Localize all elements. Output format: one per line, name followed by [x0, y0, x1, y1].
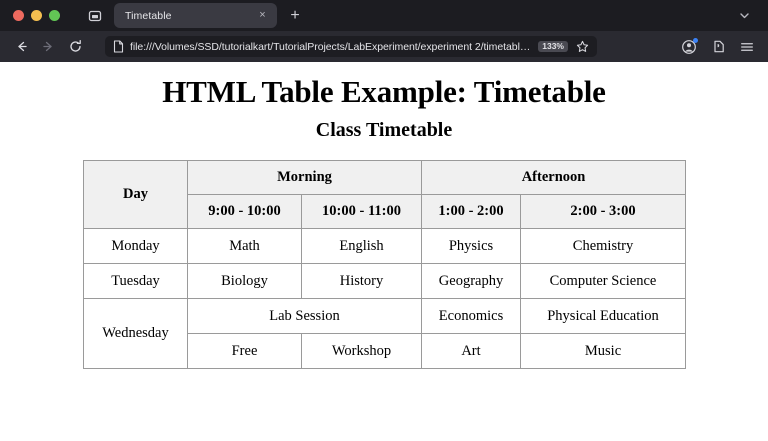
tab-strip: Timetable × + — [114, 0, 730, 31]
header-morning: Morning — [188, 161, 422, 195]
cell-day-tuesday: Tuesday — [84, 264, 188, 299]
navigation-toolbar: file:///Volumes/SSD/tutorialkart/Tutoria… — [0, 31, 768, 62]
cell-monday-1: Math — [188, 229, 302, 264]
browser-window: Timetable × + — [0, 0, 768, 441]
page-content: HTML Table Example: Timetable Class Time… — [0, 62, 768, 441]
cell-tuesday-4: Computer Science — [521, 264, 686, 299]
table-row: Wednesday Lab Session Economics Physical… — [84, 299, 686, 334]
table-head: Day Morning Afternoon 9:00 - 10:00 10:00… — [84, 161, 686, 229]
account-icon[interactable] — [679, 37, 699, 57]
cell-tuesday-3: Geography — [422, 264, 521, 299]
timetable-table: Day Morning Afternoon 9:00 - 10:00 10:00… — [83, 160, 686, 369]
table-row: Tuesday Biology History Geography Comput… — [84, 264, 686, 299]
zoom-level-badge[interactable]: 133% — [538, 41, 568, 53]
cell-wednesday-workshop: Workshop — [302, 334, 422, 369]
table-container: Day Morning Afternoon 9:00 - 10:00 10:00… — [0, 160, 768, 369]
close-window-button[interactable] — [13, 10, 24, 21]
page-document-icon — [113, 40, 124, 53]
cell-monday-3: Physics — [422, 229, 521, 264]
forward-button[interactable] — [35, 34, 62, 60]
url-text: file:///Volumes/SSD/tutorialkart/Tutoria… — [130, 41, 531, 53]
header-afternoon: Afternoon — [422, 161, 686, 195]
cell-wednesday-lab-session: Lab Session — [188, 299, 422, 334]
page-title: HTML Table Example: Timetable — [0, 74, 768, 110]
cell-wednesday-music: Music — [521, 334, 686, 369]
bookmark-star-icon[interactable] — [573, 38, 591, 56]
sidebar-toggle-icon[interactable] — [82, 4, 108, 28]
menu-icon[interactable] — [737, 37, 757, 57]
header-time-1: 9:00 - 10:00 — [188, 195, 302, 229]
maximize-window-button[interactable] — [49, 10, 60, 21]
address-bar[interactable]: file:///Volumes/SSD/tutorialkart/Tutoria… — [105, 36, 597, 57]
cell-day-wednesday: Wednesday — [84, 299, 188, 369]
header-time-4: 2:00 - 3:00 — [521, 195, 686, 229]
notification-dot — [693, 38, 698, 43]
chevron-down-icon[interactable] — [730, 3, 758, 29]
table-header-row-groups: Day Morning Afternoon — [84, 161, 686, 195]
cell-wednesday-free: Free — [188, 334, 302, 369]
toolbar-actions — [679, 37, 768, 57]
new-tab-button[interactable]: + — [283, 4, 307, 28]
cell-wednesday-economics: Economics — [422, 299, 521, 334]
back-button[interactable] — [8, 34, 35, 60]
reload-button[interactable] — [62, 34, 89, 60]
minimize-window-button[interactable] — [31, 10, 42, 21]
header-time-2: 10:00 - 11:00 — [302, 195, 422, 229]
header-time-3: 1:00 - 2:00 — [422, 195, 521, 229]
tab-title: Timetable — [125, 10, 250, 22]
window-controls — [0, 10, 70, 21]
cell-tuesday-1: Biology — [188, 264, 302, 299]
header-day: Day — [84, 161, 188, 229]
extensions-icon[interactable] — [708, 37, 728, 57]
table-body: Monday Math English Physics Chemistry Tu… — [84, 229, 686, 369]
cell-monday-4: Chemistry — [521, 229, 686, 264]
close-tab-icon[interactable]: × — [256, 9, 269, 22]
cell-day-monday: Monday — [84, 229, 188, 264]
cell-wednesday-art: Art — [422, 334, 521, 369]
table-row: Monday Math English Physics Chemistry — [84, 229, 686, 264]
cell-wednesday-physical-education: Physical Education — [521, 299, 686, 334]
tab-timetable[interactable]: Timetable × — [114, 3, 277, 28]
cell-monday-2: English — [302, 229, 422, 264]
title-bar: Timetable × + — [0, 0, 768, 31]
cell-tuesday-2: History — [302, 264, 422, 299]
table-caption-heading: Class Timetable — [0, 119, 768, 142]
